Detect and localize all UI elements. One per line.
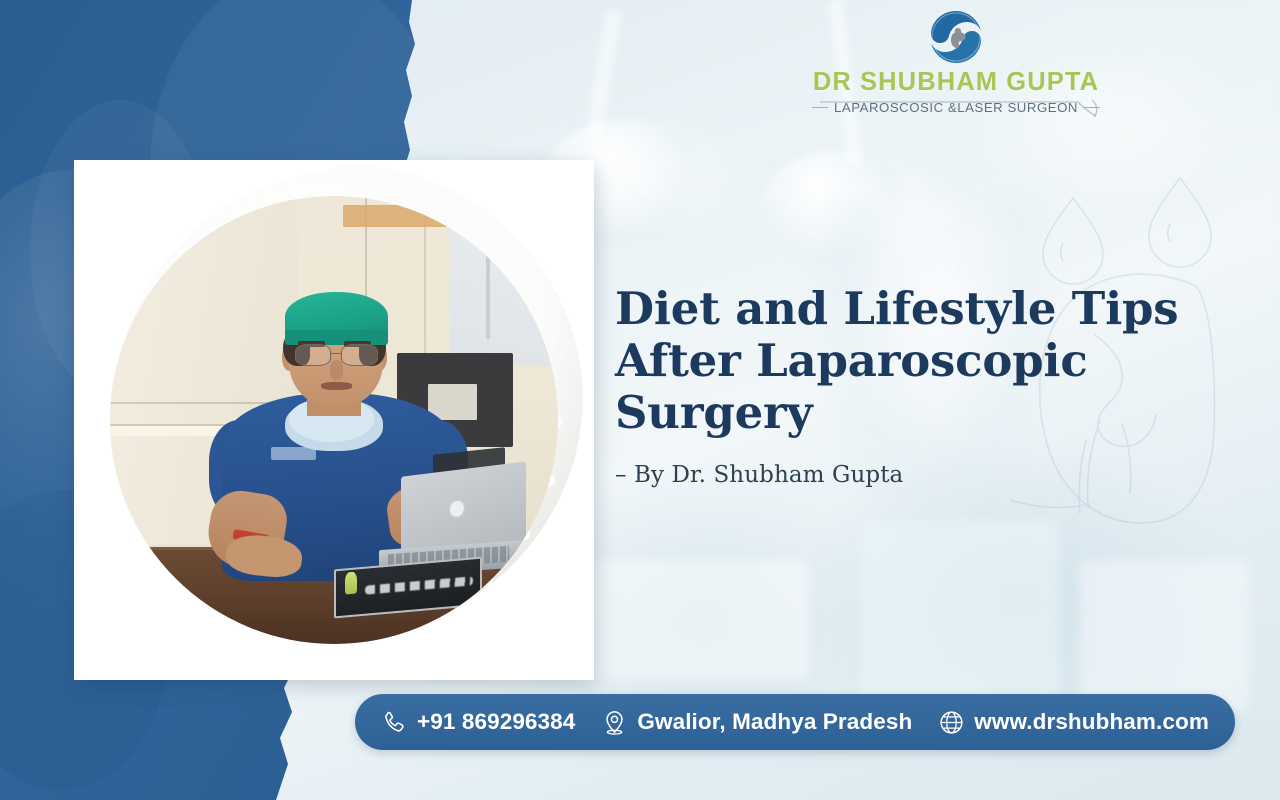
contact-location[interactable]: Gwalior, Madhya Pradesh <box>601 709 912 736</box>
phone-icon <box>381 709 408 736</box>
doctor-portrait-image <box>110 196 558 644</box>
location-text: Gwalior, Madhya Pradesh <box>637 709 912 735</box>
globe-icon <box>938 709 965 736</box>
logo-swoosh <box>806 98 1106 118</box>
map-pin-icon <box>601 709 628 736</box>
page-title: Diet and Lifestyle Tips After Laparoscop… <box>615 283 1235 440</box>
brand-name: DR SHUBHAM GUPTA <box>806 70 1106 96</box>
brand-logo[interactable]: DR SHUBHAM GUPTA LAPAROSCOSIC &LASER SUR… <box>806 6 1106 122</box>
doctor-photo <box>74 160 594 680</box>
contact-phone[interactable]: +91 869296384 <box>381 709 575 736</box>
website-url: www.drshubham.com <box>974 709 1209 735</box>
hands-circle-logo-icon <box>925 6 987 68</box>
background-equipment <box>560 560 810 680</box>
phone-number: +91 869296384 <box>417 709 575 735</box>
author-byline: – By Dr. Shubham Gupta <box>615 462 1235 488</box>
background-equipment <box>1080 560 1250 710</box>
background-equipment <box>860 520 1060 700</box>
headline-block: Diet and Lifestyle Tips After Laparoscop… <box>615 283 1235 488</box>
contact-bar: +91 869296384 Gwalior, Madhya Pradesh ww… <box>355 694 1235 750</box>
banner-root: DR SHUBHAM GUPTA LAPAROSCOSIC &LASER SUR… <box>0 0 1280 800</box>
contact-website[interactable]: www.drshubham.com <box>938 709 1209 736</box>
